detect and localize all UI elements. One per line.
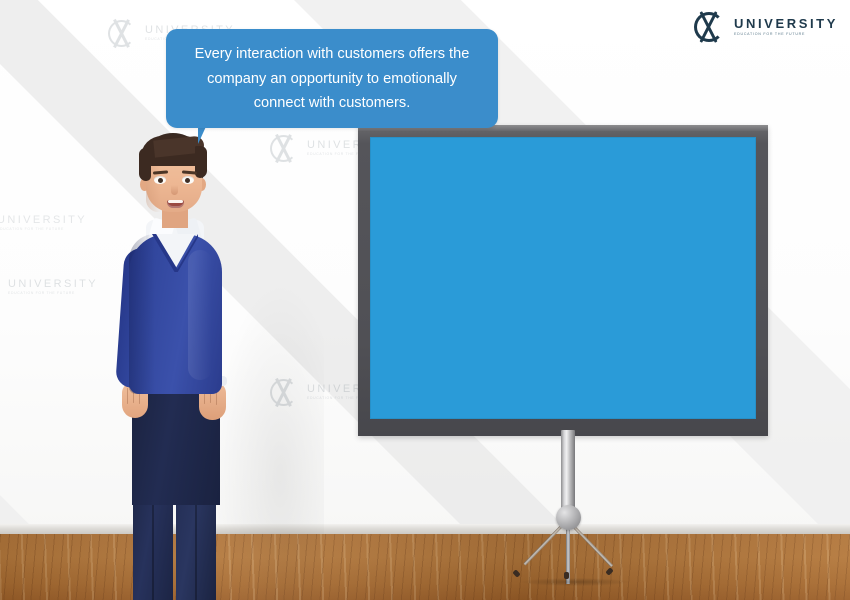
sweater-highlight: [188, 250, 212, 380]
slide-canvas: UNIVERSITY EDUCATION FOR THE FUTURE UNIV…: [0, 0, 850, 600]
nose: [171, 185, 178, 195]
projection-screen: [358, 125, 768, 436]
hair-side-left: [139, 148, 151, 181]
brand-logo: UNIVERSITY EDUCATION FOR THE FUTURE: [689, 8, 838, 46]
brand-tagline: EDUCATION FOR THE FUTURE: [734, 33, 838, 37]
screen-content-area[interactable]: [370, 137, 756, 419]
male-presenter: [96, 130, 271, 590]
pupil-right: [185, 178, 190, 183]
speech-bubble: Every interaction with customers offers …: [166, 29, 498, 128]
pupil-left: [158, 178, 163, 183]
teeth: [168, 200, 183, 203]
brand-name: UNIVERSITY: [734, 17, 838, 30]
sweater-shading: [129, 234, 155, 394]
x-monogram-icon: [689, 8, 731, 46]
